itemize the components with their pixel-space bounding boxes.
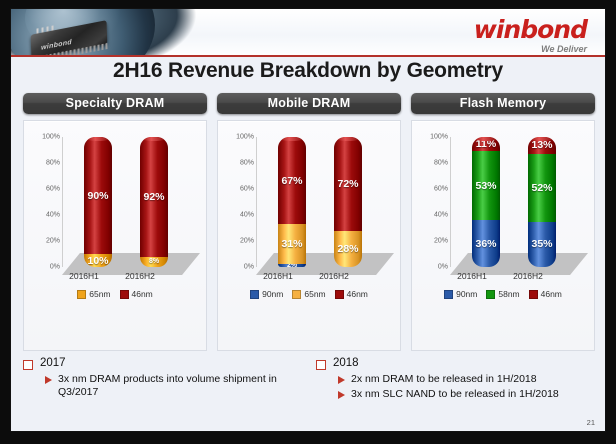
y-tick-label: 20% bbox=[434, 238, 448, 245]
notes-row: 2017 3x nm DRAM products into volume shi… bbox=[23, 357, 595, 425]
chart-legend: 90nm65nm46nm bbox=[218, 289, 400, 299]
y-axis-line bbox=[256, 137, 257, 267]
bar-segment-46nm[interactable]: 13% bbox=[528, 137, 556, 154]
legend-label: 90nm bbox=[456, 289, 477, 299]
legend-label: 90nm bbox=[262, 289, 283, 299]
x-axis-label: 2016H1 bbox=[250, 271, 306, 281]
y-axis-line bbox=[450, 137, 451, 267]
bar-2016H2[interactable]: 35%52%13% bbox=[528, 137, 556, 267]
bar-segment-46nm[interactable]: 90% bbox=[84, 137, 112, 254]
y-tick-label: 40% bbox=[434, 212, 448, 219]
page-number: 21 bbox=[587, 418, 595, 427]
bar-segment-65nm[interactable]: 31% bbox=[278, 224, 306, 264]
chart-legend: 90nm58nm46nm bbox=[412, 289, 594, 299]
legend-item-46nm[interactable]: 46nm bbox=[120, 289, 153, 299]
y-axis-ticks: 0%20%40%60%80%100% bbox=[30, 137, 60, 267]
segment-value-label: 13% bbox=[531, 139, 552, 151]
bar-2016H1[interactable]: 36%53%11% bbox=[472, 137, 500, 267]
panel-specialty-dram: Specialty DRAM 0%20%40%60%80%100% 10%90%… bbox=[23, 93, 207, 351]
legend-label: 58nm bbox=[498, 289, 519, 299]
segment-value-label: 52% bbox=[531, 182, 552, 194]
note-item-text: 3x nm DRAM products into volume shipment… bbox=[58, 373, 302, 399]
bar-segment-46nm[interactable]: 72% bbox=[334, 137, 362, 231]
bar-segment-58nm[interactable]: 53% bbox=[472, 151, 500, 220]
note-heading: 2017 bbox=[40, 357, 66, 369]
arrow-bullet-icon bbox=[45, 376, 52, 384]
legend-label: 46nm bbox=[132, 289, 153, 299]
y-tick-label: 20% bbox=[240, 238, 254, 245]
y-tick-label: 60% bbox=[434, 186, 448, 193]
legend-label: 65nm bbox=[89, 289, 110, 299]
y-axis-line bbox=[62, 137, 63, 267]
note-heading-row: 2017 bbox=[23, 357, 302, 370]
bar-segment-90nm[interactable]: 35% bbox=[528, 222, 556, 268]
bar-segment-65nm[interactable]: 8% bbox=[140, 257, 168, 267]
note-item: 2x nm DRAM to be released in 1H/2018 bbox=[338, 373, 595, 386]
bar-cap bbox=[528, 137, 556, 141]
y-tick-label: 60% bbox=[46, 186, 60, 193]
chart-flash-memory: 0%20%40%60%80%100% 36%53%11%35%52%13% 20… bbox=[411, 120, 595, 351]
bar-2016H1[interactable]: 2%31%67% bbox=[278, 137, 306, 267]
chart-canvas: 0%20%40%60%80%100% 10%90%8%92% 2016H1201… bbox=[24, 121, 206, 350]
y-tick-label: 20% bbox=[46, 238, 60, 245]
y-tick-label: 40% bbox=[240, 212, 254, 219]
y-axis-ticks: 0%20%40%60%80%100% bbox=[224, 137, 254, 267]
x-axis-label: 2016H1 bbox=[444, 271, 500, 281]
x-axis-label: 2016H2 bbox=[500, 271, 556, 281]
legend-swatch bbox=[486, 290, 495, 299]
y-tick-label: 0% bbox=[244, 264, 254, 271]
chart-specialty-dram: 0%20%40%60%80%100% 10%90%8%92% 2016H1201… bbox=[23, 120, 207, 351]
bar-cap bbox=[472, 137, 500, 141]
segment-value-label: 53% bbox=[475, 180, 496, 192]
legend-item-90nm[interactable]: 90nm bbox=[444, 289, 477, 299]
panel-title-mobile-dram: Mobile DRAM bbox=[217, 93, 401, 114]
note-heading: 2018 bbox=[333, 357, 359, 369]
segment-value-label: 72% bbox=[337, 178, 358, 190]
chart-canvas: 0%20%40%60%80%100% 36%53%11%35%52%13% 20… bbox=[412, 121, 594, 350]
bullet-square-icon bbox=[316, 360, 326, 370]
x-axis-labels: 2016H12016H2 bbox=[66, 271, 202, 285]
legend-swatch bbox=[120, 290, 129, 299]
bar-segment-58nm[interactable]: 52% bbox=[528, 154, 556, 222]
note-item-text: 2x nm DRAM to be released in 1H/2018 bbox=[351, 373, 537, 386]
y-tick-label: 60% bbox=[240, 186, 254, 193]
bar-cap bbox=[334, 137, 362, 141]
segment-value-label: 2% bbox=[287, 264, 297, 267]
panel-mobile-dram: Mobile DRAM 0%20%40%60%80%100% 2%31%67%2… bbox=[217, 93, 401, 351]
bar-segment-65nm[interactable]: 28% bbox=[334, 231, 362, 267]
legend-item-46nm[interactable]: 46nm bbox=[335, 289, 368, 299]
legend-swatch bbox=[444, 290, 453, 299]
chart-canvas: 0%20%40%60%80%100% 2%31%67%28%72% 2016H1… bbox=[218, 121, 400, 350]
bars-group: 2%31%67%28%72% bbox=[260, 137, 396, 267]
slide-root: winbond winbond We Deliver 2H16 Revenue … bbox=[0, 0, 616, 444]
legend-item-90nm[interactable]: 90nm bbox=[250, 289, 283, 299]
bar-segment-65nm[interactable]: 10% bbox=[84, 254, 112, 267]
bar-segment-90nm[interactable]: 2% bbox=[278, 264, 306, 267]
note-column-2017: 2017 3x nm DRAM products into volume shi… bbox=[23, 357, 302, 425]
bar-segment-46nm[interactable]: 92% bbox=[140, 137, 168, 257]
legend-label: 46nm bbox=[541, 289, 562, 299]
bar-cap bbox=[140, 137, 168, 141]
slide-frame: winbond winbond We Deliver 2H16 Revenue … bbox=[10, 8, 606, 432]
bars-group: 36%53%11%35%52%13% bbox=[454, 137, 590, 267]
y-tick-label: 80% bbox=[46, 160, 60, 167]
legend-item-46nm[interactable]: 46nm bbox=[529, 289, 562, 299]
brand-tagline: We Deliver bbox=[474, 45, 587, 54]
banner-divider bbox=[11, 55, 605, 57]
x-axis-labels: 2016H12016H2 bbox=[454, 271, 590, 285]
legend-item-65nm[interactable]: 65nm bbox=[292, 289, 325, 299]
legend-item-58nm[interactable]: 58nm bbox=[486, 289, 519, 299]
x-axis-label: 2016H1 bbox=[56, 271, 112, 281]
legend-swatch bbox=[335, 290, 344, 299]
bar-2016H1[interactable]: 10%90% bbox=[84, 137, 112, 267]
note-item-text: 3x nm SLC NAND to be released in 1H/2018 bbox=[351, 388, 559, 401]
legend-label: 65nm bbox=[304, 289, 325, 299]
chart-legend: 65nm46nm bbox=[24, 289, 206, 299]
segment-value-label: 8% bbox=[149, 258, 159, 266]
page-title: 2H16 Revenue Breakdown by Geometry bbox=[11, 59, 605, 83]
y-tick-label: 0% bbox=[50, 264, 60, 271]
panel-title-specialty-dram: Specialty DRAM bbox=[23, 93, 207, 114]
panel-flash-memory: Flash Memory 0%20%40%60%80%100% 36%53%11… bbox=[411, 93, 595, 351]
segment-value-label: 31% bbox=[281, 238, 302, 250]
segment-value-label: 28% bbox=[337, 243, 358, 255]
arrow-bullet-icon bbox=[338, 391, 345, 399]
note-heading-row: 2018 bbox=[316, 357, 595, 370]
y-tick-label: 100% bbox=[236, 134, 254, 141]
legend-label: 46nm bbox=[347, 289, 368, 299]
x-axis-labels: 2016H12016H2 bbox=[260, 271, 396, 285]
legend-swatch bbox=[250, 290, 259, 299]
y-axis-ticks: 0%20%40%60%80%100% bbox=[418, 137, 448, 267]
y-tick-label: 80% bbox=[240, 160, 254, 167]
y-tick-label: 0% bbox=[438, 264, 448, 271]
segment-value-label: 92% bbox=[143, 191, 164, 203]
bar-cap bbox=[278, 137, 306, 141]
y-tick-label: 80% bbox=[434, 160, 448, 167]
x-axis-label: 2016H2 bbox=[306, 271, 362, 281]
note-column-2018: 2018 2x nm DRAM to be released in 1H/201… bbox=[316, 357, 595, 425]
x-axis-label: 2016H2 bbox=[112, 271, 168, 281]
segment-value-label: 67% bbox=[281, 175, 302, 187]
legend-swatch bbox=[292, 290, 301, 299]
bar-segment-46nm[interactable]: 11% bbox=[472, 137, 500, 151]
chart-mobile-dram: 0%20%40%60%80%100% 2%31%67%28%72% 2016H1… bbox=[217, 120, 401, 351]
bar-2016H2[interactable]: 28%72% bbox=[334, 137, 362, 267]
segment-value-label: 10% bbox=[87, 255, 108, 267]
charts-row: Specialty DRAM 0%20%40%60%80%100% 10%90%… bbox=[23, 93, 595, 351]
arrow-bullet-icon bbox=[338, 376, 345, 384]
bar-cap bbox=[84, 137, 112, 141]
bar-2016H2[interactable]: 8%92% bbox=[140, 137, 168, 267]
brand-block: winbond We Deliver bbox=[474, 17, 587, 54]
y-tick-label: 40% bbox=[46, 212, 60, 219]
segment-value-label: 35% bbox=[531, 238, 552, 250]
note-item: 3x nm DRAM products into volume shipment… bbox=[45, 373, 302, 399]
bullet-square-icon bbox=[23, 360, 33, 370]
panel-title-flash-memory: Flash Memory bbox=[411, 93, 595, 114]
brand-name: winbond bbox=[474, 17, 587, 42]
y-tick-label: 100% bbox=[430, 134, 448, 141]
bars-group: 10%90%8%92% bbox=[66, 137, 202, 267]
legend-swatch bbox=[529, 290, 538, 299]
header-banner: winbond winbond We Deliver bbox=[11, 9, 605, 57]
y-tick-label: 100% bbox=[42, 134, 60, 141]
segment-value-label: 36% bbox=[475, 238, 496, 250]
bar-segment-90nm[interactable]: 36% bbox=[472, 220, 500, 267]
legend-swatch bbox=[77, 290, 86, 299]
legend-item-65nm[interactable]: 65nm bbox=[77, 289, 110, 299]
segment-value-label: 90% bbox=[87, 190, 108, 202]
bar-segment-46nm[interactable]: 67% bbox=[278, 137, 306, 224]
note-item: 3x nm SLC NAND to be released in 1H/2018 bbox=[338, 388, 595, 401]
